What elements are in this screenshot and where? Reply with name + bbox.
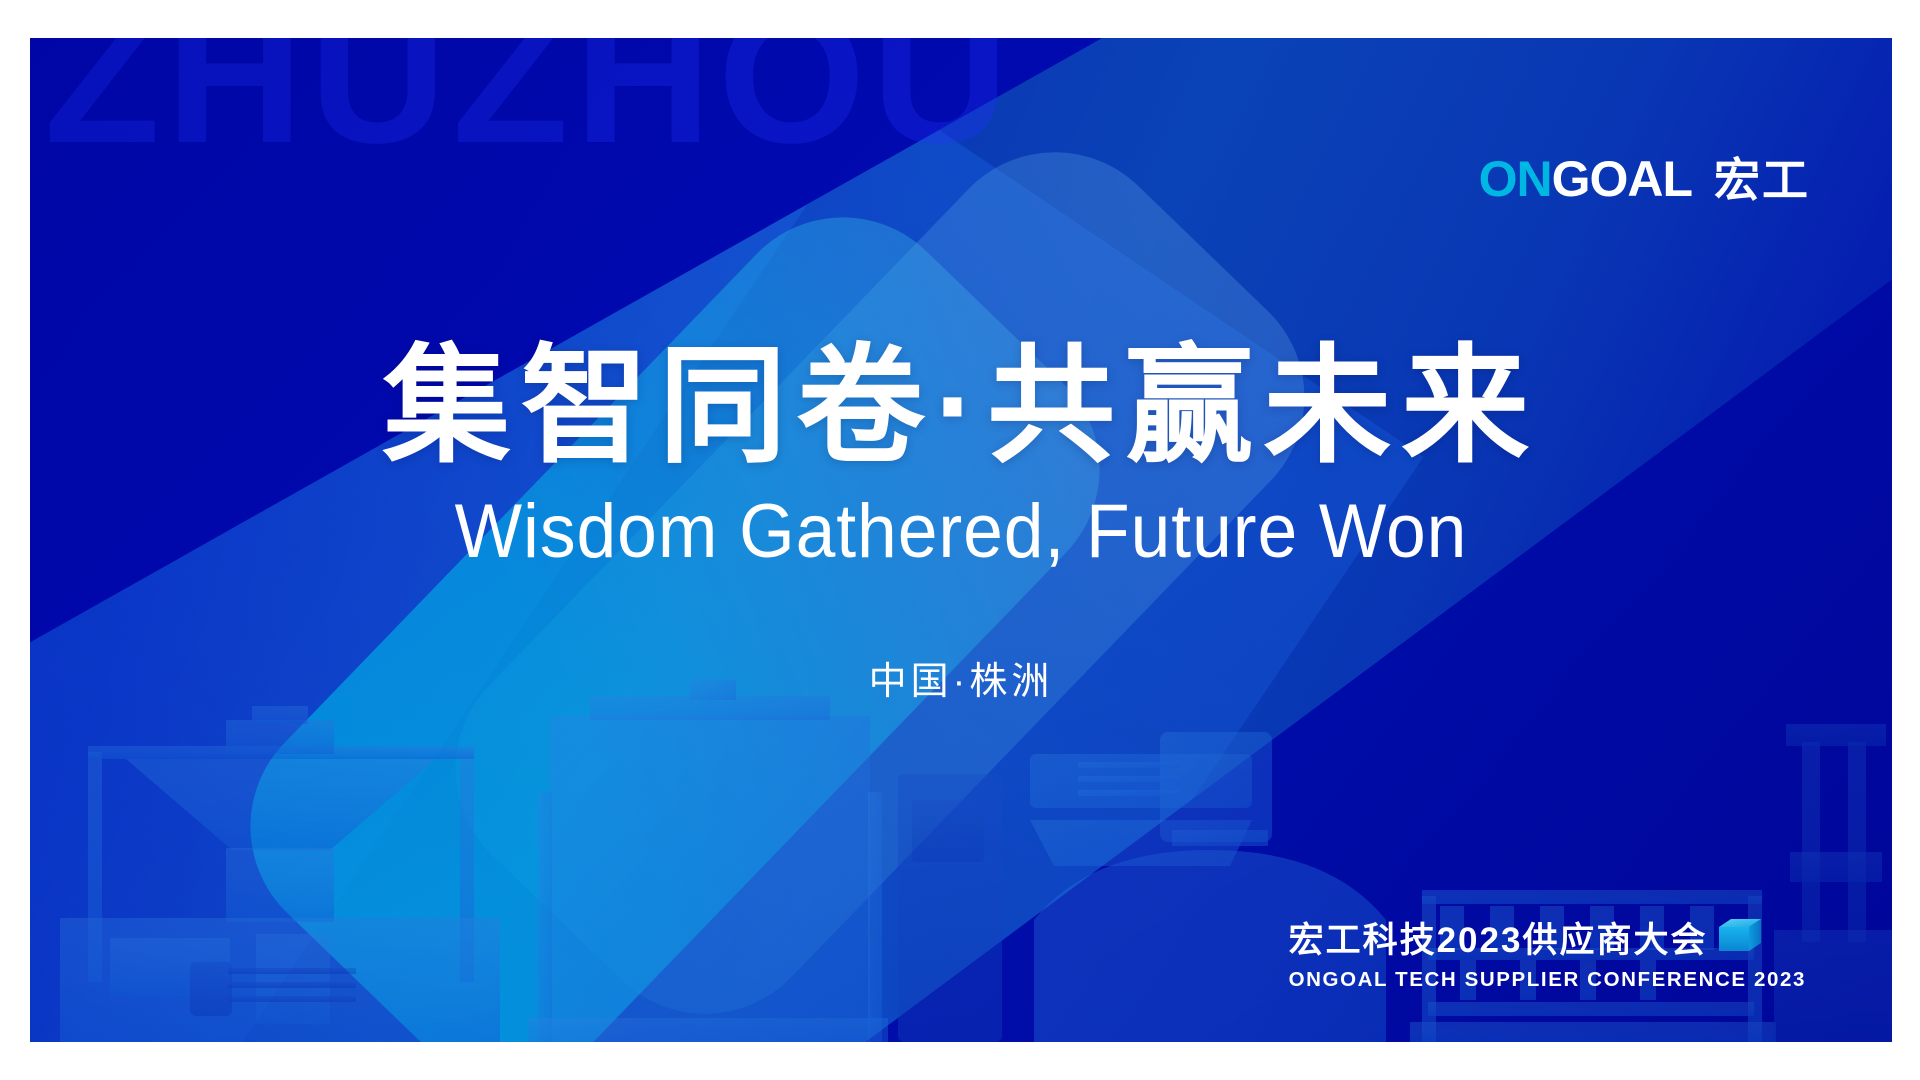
logo-mark-goal: GOAL (1552, 154, 1692, 204)
city-watermark: ZHUZHOU (44, 38, 1015, 172)
badge-title-row: 宏工科技2023供应商大会 (1289, 923, 1806, 959)
poster-canvas: ZHUZHOU (0, 0, 1920, 1080)
conference-badge: 宏工科技2023供应商大会 (1289, 923, 1806, 991)
badge-title-chinese: 宏工科技2023供应商大会 (1289, 923, 1708, 958)
conference-banner: ZHUZHOU (30, 38, 1892, 1042)
page-title-chinese: 集智同卷·共赢未来 (30, 338, 1892, 476)
ongoal-logo[interactable]: ON GOAL 宏工 (1479, 154, 1810, 204)
logo-mark-on: ON (1479, 154, 1552, 204)
cube-icon (1717, 917, 1763, 959)
logo-mark-chinese: 宏工 (1714, 157, 1810, 203)
title-block: 集智同卷·共赢未来 Wisdom Gathered, Future Won 中国… (30, 338, 1892, 705)
event-location: 中国·株洲 (30, 650, 1892, 705)
page-title-english: Wisdom Gathered, Future Won (86, 490, 1836, 574)
badge-title-english: ONGOAL TECH SUPPLIER CONFERENCE 2023 (1289, 970, 1806, 991)
